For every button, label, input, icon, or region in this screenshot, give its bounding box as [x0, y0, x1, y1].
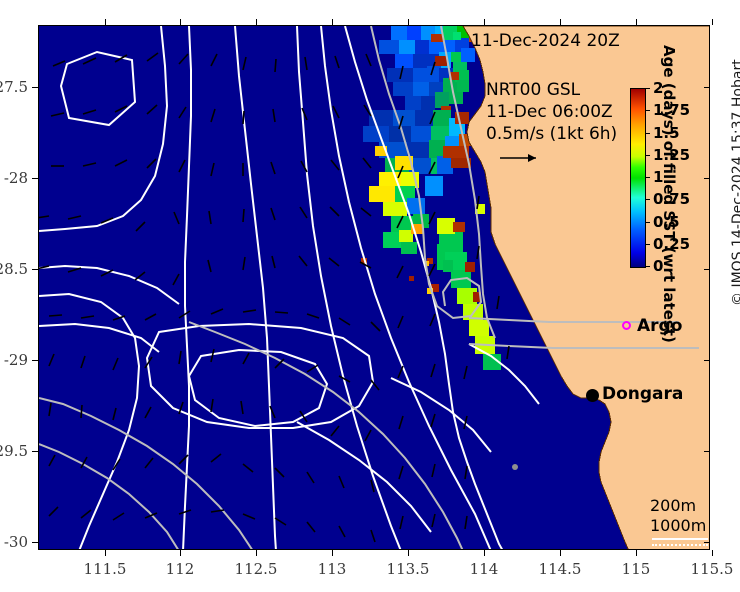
dongara-label: Dongara: [602, 384, 683, 404]
x-tick-label-0: 111.5: [84, 560, 127, 578]
colorbar-tick-0: [645, 266, 650, 267]
colorbar-title: Age (days) of filled SST (wrt latest): [660, 45, 678, 343]
bathy-1000-label: 1000m: [650, 516, 706, 535]
y-tick-right-1: [704, 178, 710, 179]
timestamp-label: 11-Dec-2024 20Z: [471, 31, 620, 51]
y-tick-label-1: -28: [0, 169, 28, 187]
colorbar-tick-8: [645, 88, 650, 89]
x-tick-top-3: [332, 19, 333, 25]
map-plot-area[interactable]: 11-Dec-2024 20Z NRT00 GSL 11-Dec 06:00Z …: [38, 25, 710, 550]
y-tick-right-5: [704, 542, 710, 543]
bathy-key-line-dashed: [652, 544, 708, 546]
x-tick-3: [332, 550, 333, 556]
y-tick-5: [32, 542, 38, 543]
argo-marker[interactable]: [622, 321, 631, 330]
x-tick-7: [636, 550, 637, 556]
x-tick-label-6: 114.5: [539, 560, 582, 578]
figure-root: 11-Dec-2024 20Z NRT00 GSL 11-Dec 06:00Z …: [0, 0, 740, 592]
x-tick-0: [105, 550, 106, 556]
bathy-key-line-solid: [652, 538, 708, 540]
x-tick-label-3: 113: [318, 560, 347, 578]
y-tick-2: [32, 269, 38, 270]
colorbar[interactable]: 0 0.25 0.5 0.75 1 1.25 1.5 1.75 2: [630, 88, 646, 268]
colorbar-gradient: [630, 88, 646, 268]
y-tick-label-2: -28.5: [0, 260, 28, 278]
vector-key-arrow: [498, 151, 544, 165]
y-tick-label-5: -30: [0, 533, 28, 551]
bathy-200-row: 200m: [650, 496, 708, 516]
y-tick-3: [32, 360, 38, 361]
colorbar-tick-7: [645, 110, 650, 111]
y-tick-label-4: -29.5: [0, 442, 28, 460]
colorbar-tick-3: [645, 199, 650, 200]
x-tick-label-8: 115.5: [691, 560, 734, 578]
x-tick-4: [408, 550, 409, 556]
dongara-marker[interactable]: [586, 389, 599, 402]
y-tick-0: [32, 87, 38, 88]
x-tick-label-2: 112.5: [235, 560, 278, 578]
y-tick-right-2: [704, 269, 710, 270]
x-tick-label-5: 114: [470, 560, 499, 578]
x-tick-top-1: [180, 19, 181, 25]
y-tick-label-3: -29: [0, 351, 28, 369]
unlabelled-grey-marker: [512, 464, 518, 470]
y-tick-label-0: -27.5: [0, 78, 28, 96]
product-time-label: 11-Dec 06:00Z: [486, 102, 613, 122]
x-tick-2: [256, 550, 257, 556]
y-tick-right-3: [704, 360, 710, 361]
colorbar-tick-4: [645, 177, 650, 178]
credit-text: © IMOS 14-Dec-2024 15:37 Hobart: [730, 59, 740, 306]
x-tick-top-0: [105, 19, 106, 25]
bathy-1000-row: 1000m: [650, 516, 708, 536]
x-tick-label-7: 115: [622, 560, 651, 578]
x-tick-8: [712, 550, 713, 556]
x-tick-top-5: [484, 19, 485, 25]
colorbar-tick-1: [645, 244, 650, 245]
bathymetry-key: 200m 1000m: [650, 496, 708, 536]
x-tick-top-7: [636, 19, 637, 25]
x-tick-top-6: [560, 19, 561, 25]
x-tick-6: [560, 550, 561, 556]
colorbar-tick-6: [645, 133, 650, 134]
y-tick-right-0: [704, 87, 710, 88]
y-tick-right-4: [704, 451, 710, 452]
x-tick-top-8: [712, 19, 713, 25]
x-tick-5: [484, 550, 485, 556]
product-name-label: NRT00 GSL: [486, 80, 580, 100]
x-tick-label-4: 113.5: [387, 560, 430, 578]
x-tick-1: [180, 550, 181, 556]
y-tick-1: [32, 178, 38, 179]
vector-key-label: 0.5m/s (1kt 6h): [486, 124, 617, 144]
x-tick-top-4: [408, 19, 409, 25]
bathy-200-label: 200m: [650, 496, 696, 515]
colorbar-tick-2: [645, 222, 650, 223]
x-tick-top-2: [256, 19, 257, 25]
colorbar-tick-5: [645, 155, 650, 156]
x-tick-label-1: 112: [166, 560, 195, 578]
y-tick-4: [32, 451, 38, 452]
